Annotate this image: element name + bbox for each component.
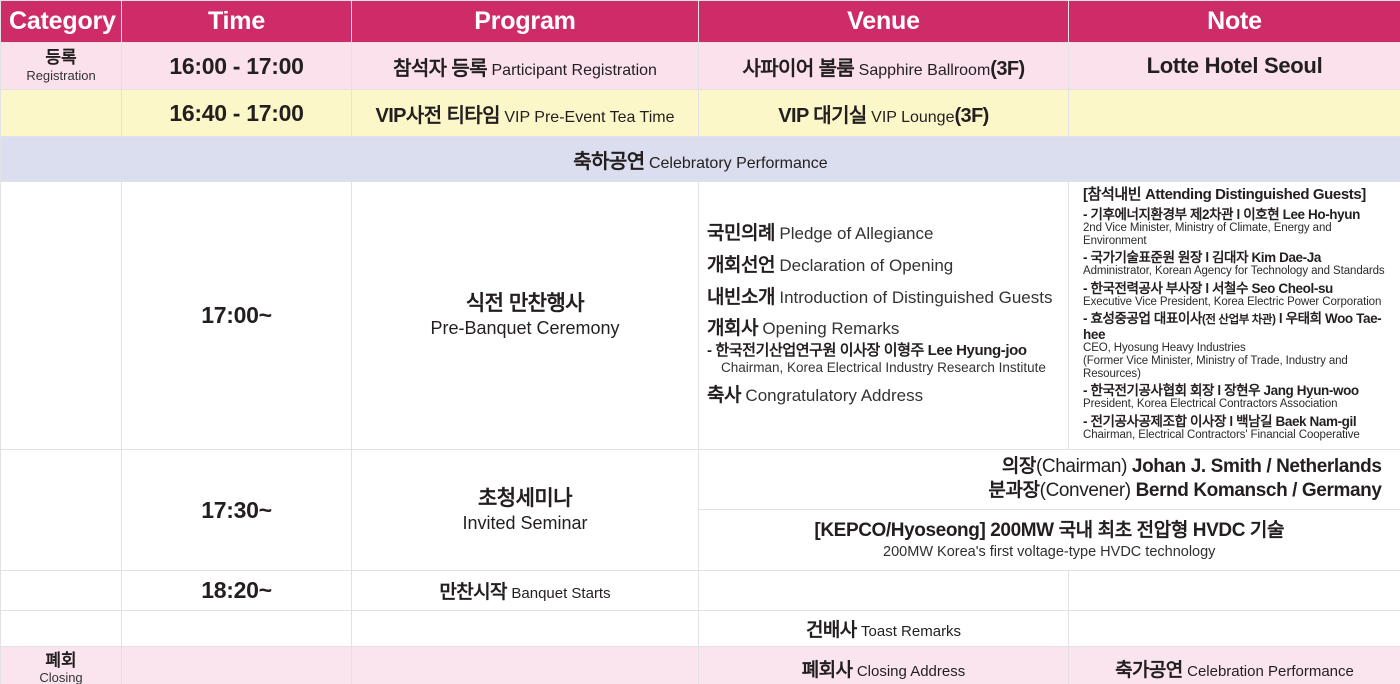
agenda-item-en: Declaration of Opening bbox=[779, 256, 953, 275]
cell-seminar-topic: [KEPCO/Hyoseong] 200MW 국내 최초 전압형 HVDC 기술… bbox=[699, 509, 1400, 570]
table-header-row: Category Time Program Venue Note bbox=[1, 1, 1400, 43]
agenda-item-kr: 개회사 bbox=[707, 318, 758, 339]
agenda-item-en: Pledge of Allegiance bbox=[779, 224, 933, 243]
cell-program-banquet: 만찬시작 Banquet Starts bbox=[352, 571, 699, 611]
guest-role-kr: - 한국전력공사 부사장 l 서철수 Seo Cheol-su bbox=[1083, 281, 1388, 296]
cell-category-closing: 폐회 Closing bbox=[1, 647, 122, 684]
agenda-item-en: Introduction of Distinguished Guests bbox=[779, 288, 1052, 307]
note-hotel-name: Lotte Hotel Seoul bbox=[1147, 53, 1323, 78]
attending-guests-list: [참석내빈 Attending Distinguished Guests] - … bbox=[1077, 182, 1392, 449]
agenda-item-en: Opening Remarks bbox=[762, 319, 899, 338]
table-row-toast: 건배사 Toast Remarks bbox=[1, 611, 1400, 647]
guest-entry: - 국가기술표준원 원장 l 김대자 Kim Dae-Ja Administra… bbox=[1083, 250, 1388, 278]
time-vip-tea: 16:40 - 17:00 bbox=[169, 100, 303, 126]
cell-note-ceremony: [참석내빈 Attending Distinguished Guests] - … bbox=[1069, 182, 1400, 450]
cell-note-banquet bbox=[1069, 571, 1400, 611]
cell-venue-toast: 건배사 Toast Remarks bbox=[699, 611, 1069, 647]
venue-registration-floor: (3F) bbox=[990, 58, 1024, 80]
seminar-chairman-name: Johan J. Smith / Netherlands bbox=[1132, 456, 1382, 477]
seminar-chairman-paren: (Chairman) bbox=[1036, 456, 1127, 477]
cell-program-ceremony: 식전 만찬행사 Pre-Banquet Ceremony bbox=[352, 182, 699, 450]
agenda-item-kr: 국민의례 bbox=[707, 223, 775, 244]
celebratory-performance-kr: 축하공연 bbox=[573, 151, 644, 173]
time-banquet: 18:20~ bbox=[201, 577, 271, 603]
program-banquet-en: Banquet Starts bbox=[511, 585, 610, 602]
time-ceremony: 17:00~ bbox=[201, 302, 271, 328]
program-registration-en: Participant Registration bbox=[492, 62, 657, 79]
seminar-topic-en: 200MW Korea's first voltage-type HVDC te… bbox=[709, 543, 1390, 561]
table-row-vip-tea: 16:40 - 17:00 VIP사전 티타임 VIP Pre-Event Te… bbox=[1, 90, 1400, 137]
agenda-item: 내빈소개 Introduction of Distinguished Guest… bbox=[707, 287, 1060, 310]
cell-program-toast bbox=[352, 611, 699, 647]
guest-entry: - 전기공사공제조합 이사장 l 백남길 Baek Nam-gil Chairm… bbox=[1083, 414, 1388, 442]
cell-celebratory-performance-band: 축하공연 Celebratory Performance bbox=[1, 137, 1400, 182]
guest-role-kr: - 효성중공업 대표이사(전 산업부 차관) l 우태희 Woo Tae-hee bbox=[1083, 311, 1388, 342]
guest-title-en-secondary: (Former Vice Minister, Ministry of Trade… bbox=[1083, 355, 1388, 381]
program-ceremony-en: Pre-Banquet Ceremony bbox=[360, 317, 690, 340]
agenda-item-kr: 개회선언 bbox=[707, 255, 775, 276]
toast-remarks-kr: 건배사 bbox=[806, 620, 857, 641]
guest-name: 김대자 Kim Dae-Ja bbox=[1212, 250, 1321, 265]
cell-category-vip-tea bbox=[1, 90, 122, 137]
cell-time-toast bbox=[122, 611, 352, 647]
program-registration-kr: 참석자 등록 bbox=[393, 58, 487, 80]
agenda-item-en: Congratulatory Address bbox=[745, 386, 923, 405]
guest-name: 서철수 Seo Cheol-su bbox=[1212, 281, 1333, 296]
guest-entry: - 한국전기공사협회 회장 l 장현우 Jang Hyun-woo Presid… bbox=[1083, 383, 1388, 411]
cell-time-closing bbox=[122, 647, 352, 684]
ceremony-agenda-list: 국민의례 Pledge of Allegiance 개회선언 Declarati… bbox=[707, 219, 1060, 412]
cell-category-ceremony bbox=[1, 182, 122, 450]
table-row-banquet: 18:20~ 만찬시작 Banquet Starts bbox=[1, 571, 1400, 611]
program-ceremony-kr: 식전 만찬행사 bbox=[360, 291, 690, 317]
closing-address-kr: 폐회사 bbox=[802, 660, 853, 681]
seminar-topic-kr: [KEPCO/Hyoseong] 200MW 국내 최초 전압형 HVDC 기술 bbox=[709, 519, 1390, 543]
time-seminar: 17:30~ bbox=[201, 497, 271, 523]
cell-category-seminar bbox=[1, 450, 122, 571]
seminar-convener-name: Bernd Komansch / Germany bbox=[1136, 480, 1382, 501]
venue-registration-en: Sapphire Ballroom bbox=[859, 62, 991, 79]
agenda-speaker-kr: - 한국전기산업연구원 이사장 이형주 Lee Hyung-joo bbox=[707, 342, 1060, 360]
cell-time-vip-tea: 16:40 - 17:00 bbox=[122, 90, 352, 137]
guest-role-text: - 한국전력공사 부사장 l bbox=[1083, 281, 1212, 296]
venue-vip-tea-en: VIP Lounge bbox=[871, 109, 954, 126]
guest-title-en: Executive Vice President, Korea Electric… bbox=[1083, 296, 1388, 309]
category-closing-kr: 폐회 bbox=[9, 651, 113, 671]
agenda-item: 개회선언 Declaration of Opening bbox=[707, 255, 1060, 278]
guest-role-text: - 효성중공업 대표이사 bbox=[1083, 311, 1202, 326]
seminar-chairman-kr: 의장 bbox=[1002, 456, 1036, 477]
category-registration-en: Registration bbox=[9, 68, 113, 84]
cell-venue-banquet bbox=[699, 571, 1069, 611]
agenda-item: 국민의례 Pledge of Allegiance bbox=[707, 223, 1060, 246]
cell-venue-registration: 사파이어 볼룸 Sapphire Ballroom(3F) bbox=[699, 43, 1069, 90]
guest-entry: - 한국전력공사 부사장 l 서철수 Seo Cheol-su Executiv… bbox=[1083, 281, 1388, 309]
column-header-venue: Venue bbox=[699, 1, 1069, 43]
cell-time-banquet: 18:20~ bbox=[122, 571, 352, 611]
guest-title-en: 2nd Vice Minister, Ministry of Climate, … bbox=[1083, 222, 1388, 248]
table-row-closing: 폐회 Closing 폐회사 Closing Address 축가공연 Cele… bbox=[1, 647, 1400, 684]
guest-name: 이호현 Lee Ho-hyun bbox=[1243, 207, 1360, 222]
seminar-topic-block: [KEPCO/Hyoseong] 200MW 국내 최초 전압형 HVDC 기술… bbox=[709, 515, 1390, 565]
guest-role-kr: - 국가기술표준원 원장 l 김대자 Kim Dae-Ja bbox=[1083, 250, 1388, 265]
guest-entry: - 기후에너지환경부 제2차관 l 이호현 Lee Ho-hyun 2nd Vi… bbox=[1083, 207, 1388, 248]
cell-time-seminar: 17:30~ bbox=[122, 450, 352, 571]
seminar-chairman-row: 의장(Chairman) Johan J. Smith / Netherland… bbox=[707, 455, 1382, 480]
column-header-category: Category bbox=[1, 1, 122, 43]
cell-note-toast bbox=[1069, 611, 1400, 647]
cell-note-closing: 축가공연 Celebration Performance bbox=[1069, 647, 1400, 684]
column-header-time: Time bbox=[122, 1, 352, 43]
celebratory-performance-en: Celebratory Performance bbox=[649, 155, 828, 172]
program-seminar-block: 초청세미나 Invited Seminar bbox=[360, 486, 690, 535]
guest-role-kr: - 기후에너지환경부 제2차관 l 이호현 Lee Ho-hyun bbox=[1083, 207, 1388, 222]
guest-entry: - 효성중공업 대표이사(전 산업부 차관) l 우태희 Woo Tae-hee… bbox=[1083, 311, 1388, 381]
schedule-grid: Category Time Program Venue Note 등록 Regi… bbox=[0, 0, 1400, 684]
table-row-celebratory-performance: 축하공연 Celebratory Performance bbox=[1, 137, 1400, 182]
guest-title-en: Chairman, Electrical Contractors' Financ… bbox=[1083, 429, 1388, 442]
cell-category-banquet bbox=[1, 571, 122, 611]
guest-name: 백남길 Baek Nam-gil bbox=[1236, 414, 1356, 429]
guest-title-en: Administrator, Korean Agency for Technol… bbox=[1083, 265, 1388, 278]
seminar-convener-kr: 분과장 bbox=[988, 480, 1039, 501]
agenda-item: 축사 Congratulatory Address bbox=[707, 385, 1060, 408]
table-row-registration: 등록 Registration 16:00 - 17:00 참석자 등록 Par… bbox=[1, 43, 1400, 90]
table-row-ceremony: 17:00~ 식전 만찬행사 Pre-Banquet Ceremony 국민의례… bbox=[1, 182, 1400, 450]
guest-role-kr: - 전기공사공제조합 이사장 l 백남길 Baek Nam-gil bbox=[1083, 414, 1388, 429]
venue-vip-tea-kr: VIP 대기실 bbox=[778, 105, 866, 127]
venue-vip-tea-floor: (3F) bbox=[954, 105, 988, 127]
program-vip-tea-en: VIP Pre-Event Tea Time bbox=[504, 109, 674, 126]
seminar-chair-block: 의장(Chairman) Johan J. Smith / Netherland… bbox=[707, 452, 1388, 507]
seminar-convener-paren: (Convener) bbox=[1040, 480, 1131, 501]
cell-program-registration: 참석자 등록 Participant Registration bbox=[352, 43, 699, 90]
cell-category-registration: 등록 Registration bbox=[1, 43, 122, 90]
venue-registration-kr: 사파이어 볼룸 bbox=[742, 58, 854, 80]
cell-time-ceremony: 17:00~ bbox=[122, 182, 352, 450]
cell-venue-closing: 폐회사 Closing Address bbox=[699, 647, 1069, 684]
closing-address-en: Closing Address bbox=[857, 663, 965, 680]
program-banquet-kr: 만찬시작 bbox=[439, 582, 507, 603]
cell-time-registration: 16:00 - 17:00 bbox=[122, 43, 352, 90]
category-registration-kr: 등록 bbox=[9, 48, 113, 68]
cell-category-toast bbox=[1, 611, 122, 647]
guest-title-en: President, Korea Electrical Contractors … bbox=[1083, 398, 1388, 411]
guest-role-text: - 한국전기공사협회 회장 l bbox=[1083, 383, 1224, 398]
cell-seminar-details: 의장(Chairman) Johan J. Smith / Netherland… bbox=[699, 450, 1400, 571]
table-row-seminar: 17:30~ 초청세미나 Invited Seminar 의장(Chairman… bbox=[1, 450, 1400, 571]
guest-role-text: - 국가기술표준원 원장 l bbox=[1083, 250, 1212, 265]
program-vip-tea-kr: VIP사전 티타임 bbox=[375, 105, 499, 127]
cell-program-seminar: 초청세미나 Invited Seminar bbox=[352, 450, 699, 571]
category-closing-en: Closing bbox=[9, 670, 113, 684]
cell-program-closing bbox=[352, 647, 699, 684]
program-ceremony-block: 식전 만찬행사 Pre-Banquet Ceremony bbox=[360, 291, 690, 340]
guest-role-text: - 전기공사공제조합 이사장 l bbox=[1083, 414, 1236, 429]
cell-note-registration: Lotte Hotel Seoul bbox=[1069, 43, 1400, 90]
program-seminar-kr: 초청세미나 bbox=[360, 486, 690, 512]
cell-note-vip-tea bbox=[1069, 90, 1400, 137]
seminar-convener-row: 분과장(Convener) Bernd Komansch / Germany bbox=[707, 479, 1382, 504]
guest-name: 장현우 Jang Hyun-woo bbox=[1224, 383, 1359, 398]
cell-venue-vip-tea: VIP 대기실 VIP Lounge(3F) bbox=[699, 90, 1069, 137]
celebration-performance-en: Celebration Performance bbox=[1187, 663, 1354, 680]
agenda-item-kr: 축사 bbox=[707, 385, 741, 406]
cell-program-vip-tea: VIP사전 티타임 VIP Pre-Event Tea Time bbox=[352, 90, 699, 137]
column-header-note: Note bbox=[1069, 1, 1400, 43]
cell-venue-ceremony: 국민의례 Pledge of Allegiance 개회선언 Declarati… bbox=[699, 182, 1069, 450]
celebration-performance-kr: 축가공연 bbox=[1115, 660, 1183, 681]
event-schedule-table: Category Time Program Venue Note 등록 Regi… bbox=[0, 0, 1400, 684]
time-registration: 16:00 - 17:00 bbox=[169, 53, 303, 79]
guest-role-text: - 기후에너지환경부 제2차관 l bbox=[1083, 207, 1243, 222]
agenda-item-kr: 내빈소개 bbox=[707, 287, 775, 308]
program-seminar-en: Invited Seminar bbox=[360, 512, 690, 535]
agenda-item-opening-remarks: 개회사 Opening Remarks - 한국전기산업연구원 이사장 이형주 … bbox=[707, 318, 1060, 376]
guest-title-en: CEO, Hyosung Heavy Industries bbox=[1083, 342, 1388, 355]
guest-role-kr: - 한국전기공사협회 회장 l 장현우 Jang Hyun-woo bbox=[1083, 383, 1388, 398]
guest-role-paren: (전 산업부 차관) bbox=[1202, 314, 1276, 326]
agenda-speaker-en: Chairman, Korea Electrical Industry Rese… bbox=[707, 360, 1060, 376]
attending-guests-title: [참석내빈 Attending Distinguished Guests] bbox=[1083, 187, 1388, 204]
column-header-program: Program bbox=[352, 1, 699, 43]
toast-remarks-en: Toast Remarks bbox=[861, 623, 961, 640]
cell-seminar-chairs: 의장(Chairman) Johan J. Smith / Netherland… bbox=[699, 450, 1400, 509]
